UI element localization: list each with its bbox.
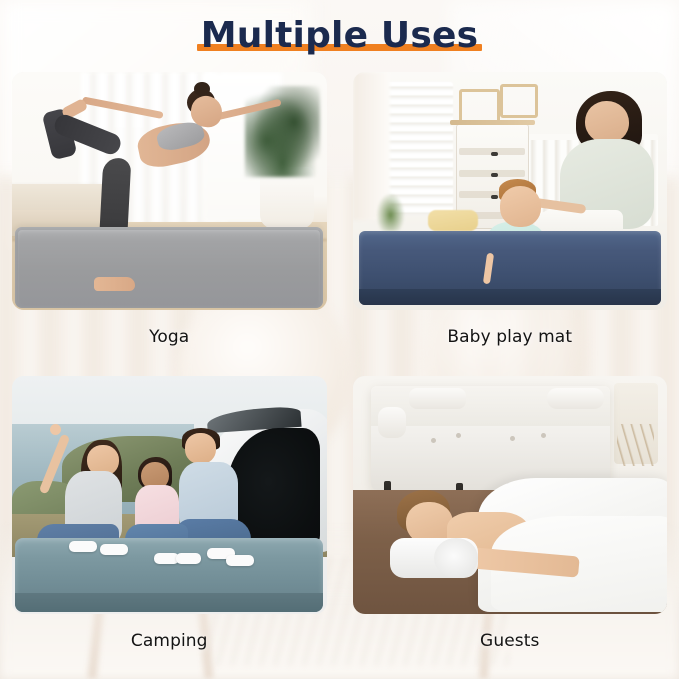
nursery-drawer-knob (491, 173, 498, 177)
photo-baby-play-mat (353, 72, 668, 310)
nursery-hex-shelf (500, 84, 537, 119)
mother-head (585, 101, 629, 144)
nursery-dresser-top (450, 120, 535, 125)
poster-title-block: Multiple Uses (0, 16, 679, 56)
sofa-armrest (378, 407, 406, 438)
use-case-grid: Yoga (0, 72, 679, 672)
sofa-tuft (431, 438, 436, 443)
yoga-mat-edge (15, 227, 323, 308)
product-infographic-poster: Multiple Uses (0, 0, 679, 679)
shoe (176, 553, 201, 564)
shoe (69, 541, 97, 552)
nursery-drawer-knob (491, 152, 498, 156)
use-case-card-guests: Guests (353, 376, 668, 668)
nursery-plant (375, 191, 406, 231)
nursery-floor-pillow (428, 210, 478, 231)
title-inner: Multiple Uses (195, 16, 485, 56)
sofa-bolster (547, 388, 604, 409)
nursery-drawer-knob (491, 195, 498, 199)
caption-guests: Guests (480, 631, 539, 651)
use-case-card-camping: Camping (12, 376, 327, 668)
use-case-card-baby-play-mat: Baby play mat (353, 72, 668, 364)
yoga-hair-bun (194, 82, 210, 96)
baby-play-mat-side (359, 289, 661, 306)
photo-yoga (12, 72, 327, 310)
baby-head (500, 186, 541, 226)
use-case-card-yoga: Yoga (12, 72, 327, 364)
yoga-standing-foot (94, 277, 135, 291)
caption-camping: Camping (131, 631, 208, 651)
caption-yoga: Yoga (149, 327, 189, 347)
photo-camping (12, 376, 327, 614)
shoe (100, 544, 128, 555)
photo-guests (353, 376, 668, 614)
sofa-pillow (409, 388, 466, 409)
page-title: Multiple Uses (201, 16, 479, 56)
yoga-plant (245, 86, 320, 176)
sofa-tuft (510, 436, 515, 441)
shoe (226, 555, 254, 566)
camping-mat-side (15, 593, 323, 612)
father-head (185, 433, 216, 464)
side-table-legs (617, 424, 655, 467)
caption-baby-play-mat: Baby play mat (447, 327, 572, 347)
mother-pointing-hand (50, 424, 61, 435)
shoe (154, 553, 179, 564)
